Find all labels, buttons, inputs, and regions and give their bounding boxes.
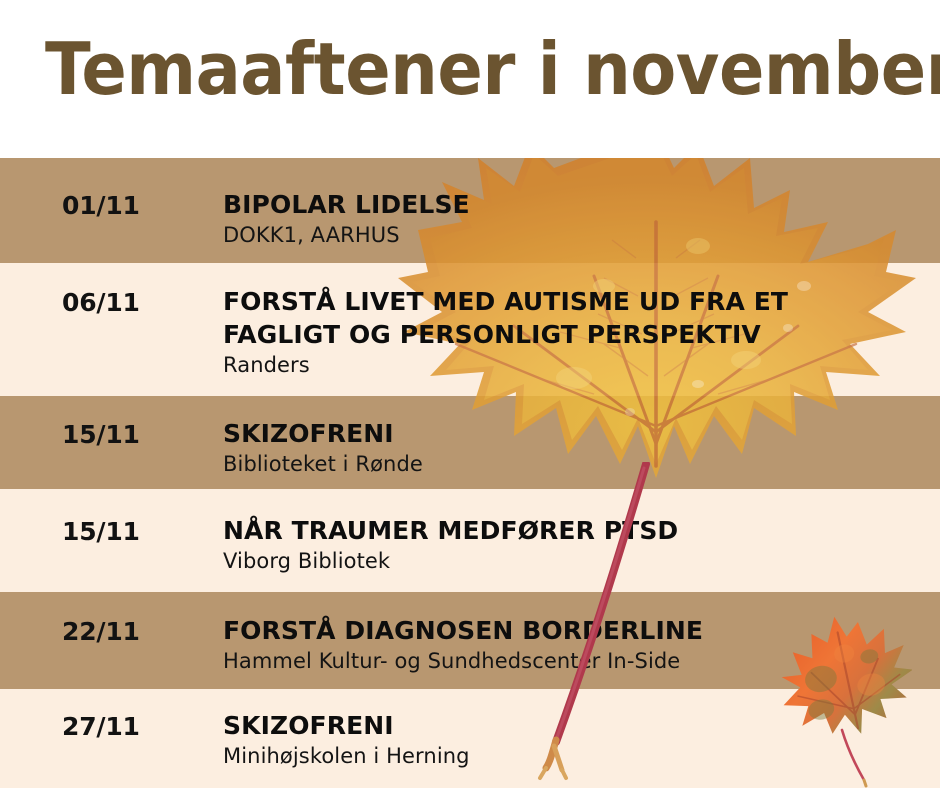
row-venue: Hammel Kultur- og Sundhedscenter In-Side [223, 648, 940, 675]
row-title-line1: BIPOLAR LIDELSE [223, 190, 470, 219]
row-body: BIPOLAR LIDELSE DOKK1, AARHUS [223, 188, 940, 249]
row-title: BIPOLAR LIDELSE [223, 188, 940, 221]
row-venue: Minihøjskolen i Herning [223, 743, 940, 770]
row-date: 15/11 [62, 420, 140, 449]
row-title-line1: SKIZOFRENI [223, 419, 394, 448]
poster: 01/11 BIPOLAR LIDELSE DOKK1, AARHUS 06/1… [0, 0, 940, 788]
row-body: SKIZOFRENI Minihøjskolen i Herning [223, 709, 940, 770]
row-title: SKIZOFRENI [223, 709, 940, 742]
row-date: 27/11 [62, 712, 140, 741]
schedule-row: 06/11 FORSTÅ LIVET MED AUTISME UD FRA ET… [0, 263, 940, 396]
row-venue: Biblioteket i Rønde [223, 451, 940, 478]
row-title-line1: FORSTÅ LIVET MED AUTISME UD FRA ET [223, 287, 788, 316]
row-title-line1: NÅR TRAUMER MEDFØRER PTSD [223, 516, 678, 545]
row-title-line1: FORSTÅ DIAGNOSEN BORDERLINE [223, 616, 703, 645]
schedule-row: 27/11 SKIZOFRENI Minihøjskolen i Herning [0, 689, 940, 788]
row-body: SKIZOFRENI Biblioteket i Rønde [223, 417, 940, 478]
schedule-row: 15/11 SKIZOFRENI Biblioteket i Rønde [0, 396, 940, 489]
schedule-row: 15/11 NÅR TRAUMER MEDFØRER PTSD Viborg B… [0, 489, 940, 592]
poster-header: Temaaftener i november [0, 0, 940, 158]
page-title: Temaaftener i november [45, 26, 940, 112]
row-body: NÅR TRAUMER MEDFØRER PTSD Viborg Bibliot… [223, 514, 940, 575]
row-body: FORSTÅ DIAGNOSEN BORDERLINE Hammel Kultu… [223, 614, 940, 675]
row-venue: DOKK1, AARHUS [223, 222, 940, 249]
row-venue: Randers [223, 352, 940, 379]
schedule-row: 01/11 BIPOLAR LIDELSE DOKK1, AARHUS [0, 158, 940, 263]
row-venue: Viborg Bibliotek [223, 548, 940, 575]
row-body: FORSTÅ LIVET MED AUTISME UD FRA ET FAGLI… [223, 285, 940, 379]
row-date: 15/11 [62, 517, 140, 546]
row-title: FORSTÅ DIAGNOSEN BORDERLINE [223, 614, 940, 647]
row-title: NÅR TRAUMER MEDFØRER PTSD [223, 514, 940, 547]
row-title-line1: SKIZOFRENI [223, 711, 394, 740]
row-date: 06/11 [62, 288, 140, 317]
row-title: SKIZOFRENI [223, 417, 940, 450]
row-title: FORSTÅ LIVET MED AUTISME UD FRA ET FAGLI… [223, 285, 940, 351]
row-date: 22/11 [62, 617, 140, 646]
row-title-line2: FAGLIGT OG PERSONLIGT PERSPEKTIV [223, 318, 940, 351]
schedule-row: 22/11 FORSTÅ DIAGNOSEN BORDERLINE Hammel… [0, 592, 940, 689]
row-date: 01/11 [62, 191, 140, 220]
